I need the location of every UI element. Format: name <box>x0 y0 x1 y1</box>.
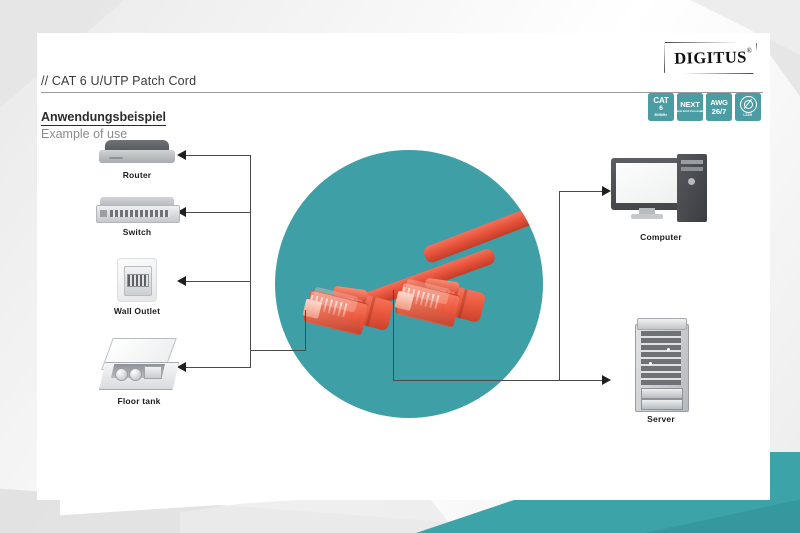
awg-badge-line1: AWG <box>710 99 728 107</box>
device-switch: Switch <box>86 197 188 237</box>
computer-icon <box>611 154 711 228</box>
device-label-switch: Switch <box>86 227 188 237</box>
wall-outlet-icon <box>117 258 157 302</box>
floor-tank-icon <box>97 338 181 392</box>
device-wall-outlet: Wall Outlet <box>101 258 173 316</box>
line-to-computer <box>559 191 603 192</box>
cat6-badge-line3: 500MHz <box>655 114 667 117</box>
device-label-computer: Computer <box>607 232 715 242</box>
device-router: Router <box>89 140 185 180</box>
device-label-floor-tank: Floor tank <box>91 396 187 406</box>
next-badge-line3: Near End Crosstalk <box>677 110 703 114</box>
switch-icon <box>96 197 178 223</box>
line-to-switch <box>185 212 251 213</box>
device-server: Server <box>629 318 693 424</box>
awg-badge-line2: 26/7 <box>712 108 727 116</box>
lszh-badge-line3: LSZH <box>744 115 753 118</box>
awg-badge: AWG 26/7 <box>706 93 732 121</box>
line-to-server <box>559 380 603 381</box>
patch-cord-graphic <box>275 150 543 418</box>
server-icon <box>635 318 687 410</box>
cat6-badge: CAT 6 500MHz <box>648 93 674 121</box>
next-badge: NEXT Near End Crosstalk <box>677 93 703 121</box>
arrow-wall-outlet <box>177 276 186 286</box>
lszh-badge: LSZH <box>735 93 761 121</box>
line-left-from-connector <box>250 350 306 351</box>
section-title-de: Anwendungsbeispiel <box>41 110 166 126</box>
section-title-en: Example of use <box>41 127 127 141</box>
line-right-from-connector <box>393 380 560 381</box>
cat6-badge-line1: CAT <box>653 97 668 105</box>
spec-badge-group: CAT 6 500MHz NEXT Near End Crosstalk AWG… <box>648 93 761 121</box>
application-diagram: Router Switch Wall Outlet <box>37 140 770 450</box>
router-icon <box>99 140 175 166</box>
arrow-server <box>602 375 611 385</box>
datasheet-page: DIGITUS ® // CAT 6 U/UTP Patch Cord CAT … <box>0 0 800 533</box>
next-badge-line1: NEXT <box>680 101 699 109</box>
line-left-connector-drop <box>305 310 306 351</box>
device-label-wall-outlet: Wall Outlet <box>101 306 173 316</box>
left-bus-line <box>250 155 251 367</box>
page-title: // CAT 6 U/UTP Patch Cord <box>41 74 196 88</box>
right-bus-line <box>559 191 560 381</box>
registered-trademark-icon: ® <box>747 47 752 55</box>
device-floor-tank: Floor tank <box>91 338 187 406</box>
device-computer: Computer <box>607 154 715 242</box>
line-to-wall-outlet <box>185 281 251 282</box>
device-label-router: Router <box>89 170 185 180</box>
logo-wordmark: DIGITUS <box>664 41 758 75</box>
line-to-router <box>185 155 251 156</box>
digitus-logo: DIGITUS ® <box>664 42 757 74</box>
line-right-connector-drop <box>393 290 394 380</box>
no-halogen-icon <box>740 96 757 113</box>
line-to-floor-tank <box>185 367 251 368</box>
rj45-connector-right <box>393 269 488 334</box>
cat6-badge-line2: 6 <box>659 106 663 113</box>
device-label-server: Server <box>629 414 693 424</box>
